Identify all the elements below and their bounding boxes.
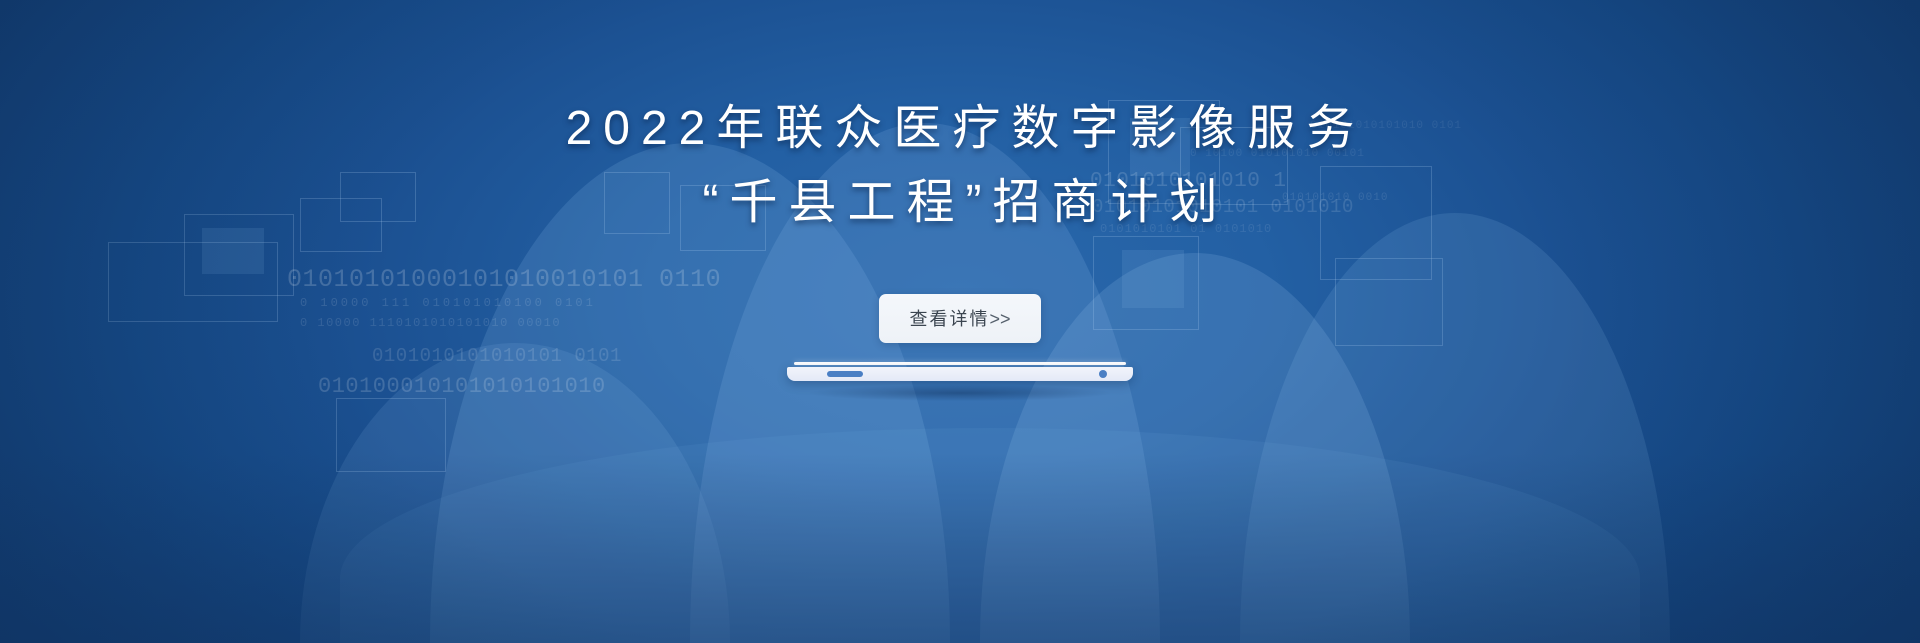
promo-banner: 01010101000101010010101 0110 0 10000 111… [0,0,1920,643]
banner-title: 2022年联众医疗数字影像服务 “千县工程”招商计划 [0,92,1920,240]
view-details-button[interactable]: 查看详情>> [879,294,1040,343]
laptop-notch-icon [827,371,863,377]
title-line-1: 2022年联众医疗数字影像服务 [0,92,1920,166]
cta-container: 查看详情>> [0,294,1920,343]
bottom-haze [0,453,1920,643]
cta-arrows-icon: >> [989,309,1010,329]
laptop-icon [787,362,1133,401]
laptop-shadow [810,385,1110,401]
title-line-2: “千县工程”招商计划 [0,166,1920,240]
cta-label: 查看详情 [909,309,989,329]
laptop-base [787,367,1133,381]
laptop-dot-icon [1099,370,1107,378]
